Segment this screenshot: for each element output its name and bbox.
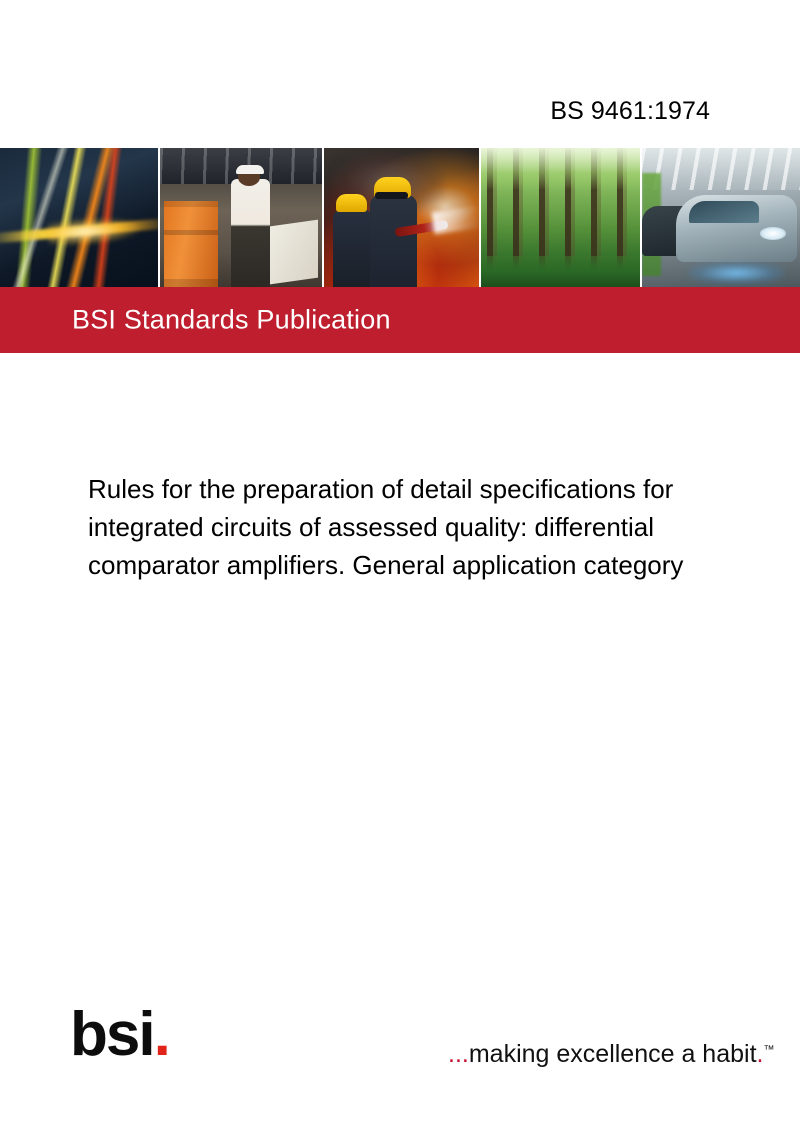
photo-panel-light-trails-night-traffic <box>0 148 160 287</box>
firefighter-primary-visor <box>375 192 408 199</box>
orange-crate <box>164 201 219 287</box>
car-headlamp <box>760 227 785 240</box>
banner-label: BSI Standards Publication <box>72 305 391 336</box>
floor-light-glow <box>689 262 784 284</box>
standard-cover-page: BS 9461:1974 <box>0 0 800 1132</box>
bsi-logo-dot: . <box>154 1000 169 1069</box>
document-title: Rules for the preparation of detail spec… <box>88 470 800 584</box>
white-box <box>270 220 318 285</box>
firefighter-secondary-body <box>333 209 372 287</box>
forest-floor <box>481 256 639 287</box>
title-line-1: Rules for the preparation of detail spec… <box>88 470 800 508</box>
worker-body <box>231 179 270 287</box>
photo-panel-car-assembly-line <box>642 148 800 287</box>
photo-panel-pine-forest <box>481 148 641 287</box>
firefighter-primary-body <box>370 195 417 287</box>
title-line-3: comparator amplifiers. General applicati… <box>88 546 800 584</box>
bsi-tagline: ...making excellence a habit.™ <box>448 1036 774 1068</box>
factory-roof-lights <box>642 148 800 190</box>
cover-photo-strip <box>0 148 800 287</box>
title-line-2: integrated circuits of assessed quality:… <box>88 508 800 546</box>
worker-cap <box>236 165 263 175</box>
tagline-ellipsis: ... <box>448 1040 469 1068</box>
trademark-icon: ™ <box>763 1044 774 1056</box>
bsi-standards-publication-banner: BSI Standards Publication <box>0 287 800 353</box>
forest-canopy <box>481 148 639 190</box>
photo-panel-warehouse-worker-logistics <box>160 148 323 287</box>
bsi-logo: bsi. <box>70 1004 169 1066</box>
bsi-logo-wordmark: bsi <box>70 1000 154 1069</box>
tagline-text: making excellence a habit <box>469 1040 757 1068</box>
firefighter-secondary-helmet <box>336 194 367 212</box>
standard-number: BS 9461:1974 <box>0 97 710 126</box>
car-windshield <box>689 201 759 223</box>
photo-panel-firefighters-with-hose <box>324 148 481 287</box>
